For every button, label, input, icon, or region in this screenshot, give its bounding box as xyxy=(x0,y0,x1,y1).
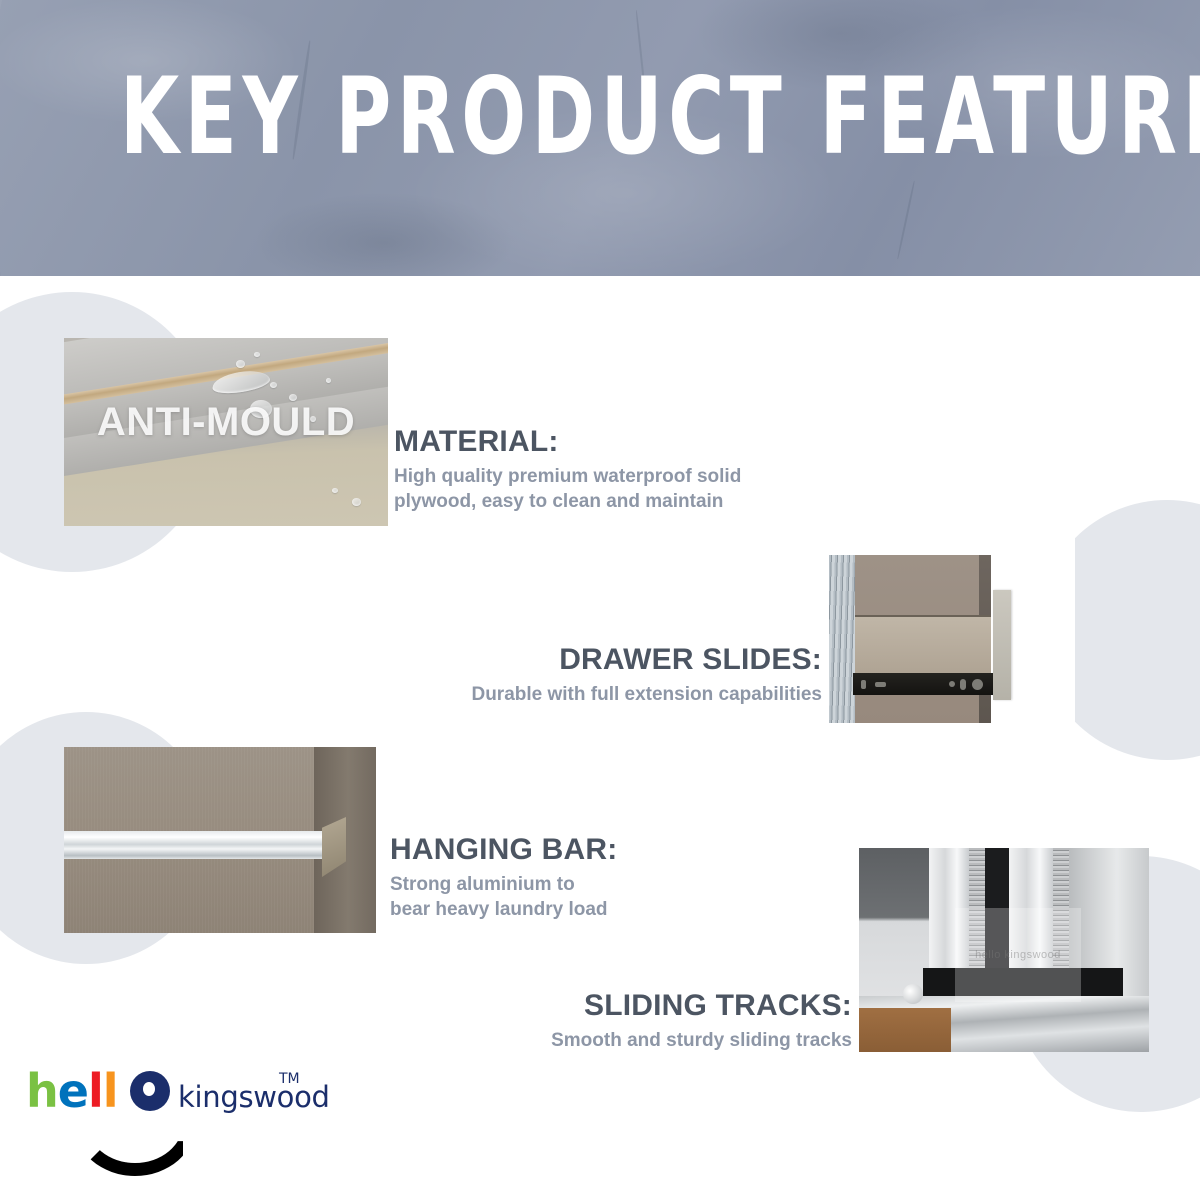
rail-slot xyxy=(960,679,966,690)
feature-description-material: High quality premium waterproof solid pl… xyxy=(394,464,824,514)
plywood-sheets-photo: ANTI-MOULD xyxy=(64,338,388,526)
feature-description-sliding-tracks: Smooth and sturdy sliding tracks xyxy=(440,1028,852,1053)
logo-wordmark-hello: hell xyxy=(26,1068,118,1114)
logo-letter-h: h xyxy=(26,1068,58,1114)
rail-screw xyxy=(972,679,983,690)
drawer-slide-photo xyxy=(829,523,1075,723)
logo-smile-arc xyxy=(74,1120,196,1176)
feature-description-hanging-bar: Strong aluminium to bear heavy laundry l… xyxy=(390,872,790,922)
logo-brand-name: kingswood xyxy=(178,1080,330,1114)
page-header-banner: KEY PRODUCT FEATURES xyxy=(0,0,1200,276)
image-watermark: hello kingswood xyxy=(955,908,1081,1002)
feature-description-line: High quality premium waterproof solid xyxy=(394,464,824,489)
feature-description-line: Smooth and sturdy sliding tracks xyxy=(440,1028,852,1053)
logo-letter-l-orange: l xyxy=(103,1068,118,1114)
timber-floor-edge xyxy=(859,1008,951,1052)
drawer-cabinet-side-panel xyxy=(829,555,855,723)
page-title: KEY PRODUCT FEATURES xyxy=(120,60,1080,174)
drawer-front-panel xyxy=(993,590,1011,700)
rail-hole xyxy=(861,680,866,689)
logo-trademark-symbol: TM xyxy=(279,1071,300,1087)
feature-block-drawer-slides: DRAWER SLIDES: Durable with full extensi… xyxy=(360,642,822,707)
anti-mould-overlay-label: ANTI-MOULD xyxy=(64,400,388,445)
feature-title-hanging-bar: HANGING BAR: xyxy=(390,832,790,868)
infographic-page: KEY PRODUCT FEATURES ANTI-MOULD MATERIAL… xyxy=(0,0,1200,1177)
feature-description-line: Strong aluminium to xyxy=(390,872,790,897)
feature-title-drawer-slides: DRAWER SLIDES: xyxy=(360,642,822,678)
feature-description-drawer-slides: Durable with full extension capabilities xyxy=(360,682,822,707)
logo-letter-o-circle xyxy=(130,1071,170,1111)
rail-slot xyxy=(875,682,886,687)
water-droplet xyxy=(332,488,338,493)
feature-description-line: plywood, easy to clean and maintain xyxy=(394,489,824,514)
track-roller-wheel xyxy=(903,984,923,1004)
feature-description-line: bear heavy laundry load xyxy=(390,897,790,922)
brand-logo[interactable]: hell kingswood TM xyxy=(26,1068,316,1164)
feature-block-sliding-tracks: SLIDING TRACKS: Smooth and sturdy slidin… xyxy=(440,988,852,1053)
water-droplet xyxy=(326,378,331,383)
feature-title-material: MATERIAL: xyxy=(394,424,824,460)
water-droplet xyxy=(236,360,245,368)
sliding-track-photo: hello kingswood xyxy=(859,848,1149,1052)
logo-letter-l-red: l xyxy=(88,1068,103,1114)
drawer-slide-rail xyxy=(853,673,997,695)
logo-letter-e: e xyxy=(58,1068,88,1114)
feature-title-sliding-tracks: SLIDING TRACKS: xyxy=(440,988,852,1024)
rail-hole xyxy=(949,681,955,687)
water-droplet xyxy=(352,498,361,506)
feature-block-hanging-bar: HANGING BAR: Strong aluminium to bear he… xyxy=(390,832,790,922)
water-droplet xyxy=(270,382,277,388)
hanging-bar-photo xyxy=(64,747,376,933)
water-droplet xyxy=(254,352,260,357)
aluminium-hanging-rail xyxy=(64,831,336,859)
feature-block-material: MATERIAL: High quality premium waterproo… xyxy=(394,424,824,514)
feature-description-line: Durable with full extension capabilities xyxy=(360,682,822,707)
